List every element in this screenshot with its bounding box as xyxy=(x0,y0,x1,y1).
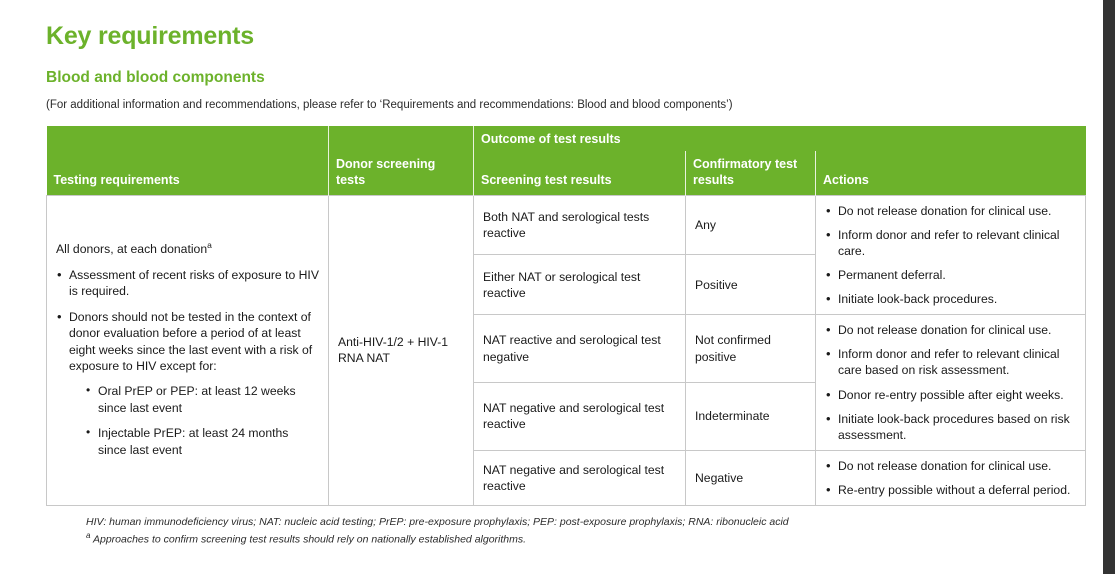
actions-list: Do not release donation for clinical use… xyxy=(825,458,1076,498)
actions-list: Do not release donation for clinical use… xyxy=(825,203,1076,307)
footnote-a: a Approaches to confirm screening test r… xyxy=(86,530,1086,548)
list-item: Re-entry possible without a deferral per… xyxy=(825,482,1076,498)
list-item: Donors should not be tested in the conte… xyxy=(56,309,319,459)
list-item: Injectable PrEP: at least 24 months sinc… xyxy=(86,425,319,458)
right-edge-strip xyxy=(1103,0,1115,574)
cell-screening-test-results: NAT negative and serological test reacti… xyxy=(474,450,686,505)
cell-screening-test-results: NAT reactive and serological test negati… xyxy=(474,315,686,383)
page-title: Key requirements xyxy=(0,0,1103,51)
cell-confirmatory-test-results: Not confirmed positive xyxy=(686,315,816,383)
table-head: Testing requirements Donor screening tes… xyxy=(47,126,1086,195)
cell-confirmatory-test-results: Indeterminate xyxy=(686,383,816,451)
document-page: Key requirements Blood and blood compone… xyxy=(0,0,1103,574)
cell-screening-test-results: Either NAT or serological test reactive xyxy=(474,255,686,315)
cell-actions: Do not release donation for clinical use… xyxy=(816,450,1086,505)
col-header-donor-screening-tests: Donor screening tests xyxy=(329,126,474,195)
list-item: Initiate look-back procedures. xyxy=(825,291,1076,307)
cell-screening-test-results: Both NAT and serological tests reactive xyxy=(474,195,686,255)
col-header-confirmatory-test-results: Confirmatory test results xyxy=(686,151,816,195)
cell-actions: Do not release donation for clinical use… xyxy=(816,195,1086,314)
footnote-abbreviations: HIV: human immunodeficiency virus; NAT: … xyxy=(86,514,1086,530)
col-header-testing-requirements: Testing requirements xyxy=(47,126,329,195)
bullet-text: Donors should not be tested in the conte… xyxy=(69,310,312,373)
bullet-text: Assessment of recent risks of exposure t… xyxy=(69,268,319,298)
list-item: Assessment of recent risks of exposure t… xyxy=(56,267,319,300)
testing-requirements-lead-text: All donors, at each donation xyxy=(56,242,207,256)
list-item: Do not release donation for clinical use… xyxy=(825,458,1076,474)
cell-confirmatory-test-results: Positive xyxy=(686,255,816,315)
col-header-actions: Actions xyxy=(816,151,1086,195)
col-header-outcome-of-test-results: Outcome of test results xyxy=(474,126,1086,151)
footnotes: HIV: human immunodeficiency virus; NAT: … xyxy=(86,514,1086,548)
testing-requirements-lead: All donors, at each donationa xyxy=(56,240,319,257)
cell-actions: Do not release donation for clinical use… xyxy=(816,315,1086,451)
list-item: Inform donor and refer to relevant clini… xyxy=(825,346,1076,378)
cell-confirmatory-test-results: Negative xyxy=(686,450,816,505)
testing-requirements-sub-list: Oral PrEP or PEP: at least 12 weeks sinc… xyxy=(69,383,319,458)
page-subtitle: Blood and blood components xyxy=(0,51,1103,87)
col-header-screening-test-results: Screening test results xyxy=(474,151,686,195)
footnote-marker-a: a xyxy=(207,240,212,250)
list-item: Do not release donation for clinical use… xyxy=(825,322,1076,338)
list-item: Do not release donation for clinical use… xyxy=(825,203,1076,219)
page-note: (For additional information and recommen… xyxy=(0,87,1103,111)
cell-confirmatory-test-results: Any xyxy=(686,195,816,255)
list-item: Donor re-entry possible after eight week… xyxy=(825,387,1076,403)
testing-requirements-bullet-list: Assessment of recent risks of exposure t… xyxy=(56,267,319,459)
table-body: All donors, at each donationa Assessment… xyxy=(47,195,1086,505)
list-item: Inform donor and refer to relevant clini… xyxy=(825,227,1076,259)
table-head-row-group: Testing requirements Donor screening tes… xyxy=(47,126,1086,151)
actions-list: Do not release donation for clinical use… xyxy=(825,322,1076,443)
footnote-a-text: Approaches to confirm screening test res… xyxy=(93,534,526,546)
key-requirements-table: Testing requirements Donor screening tes… xyxy=(46,126,1086,506)
list-item: Oral PrEP or PEP: at least 12 weeks sinc… xyxy=(86,383,319,416)
footnote-marker-a-ref: a xyxy=(86,531,90,540)
cell-screening-test-results: NAT negative and serological test reacti… xyxy=(474,383,686,451)
table-row: All donors, at each donationa Assessment… xyxy=(47,195,1086,255)
cell-testing-requirements: All donors, at each donationa Assessment… xyxy=(47,195,329,505)
list-item: Initiate look-back procedures based on r… xyxy=(825,411,1076,443)
cell-donor-screening-tests: Anti-HIV-1/2 + HIV-1 RNA NAT xyxy=(329,195,474,505)
list-item: Permanent deferral. xyxy=(825,267,1076,283)
